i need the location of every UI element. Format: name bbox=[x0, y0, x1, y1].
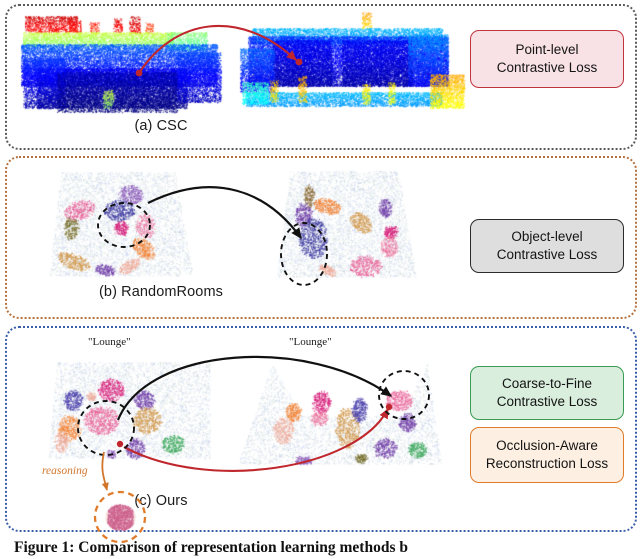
figure-1: (a) CSC Point-level Contrastive Loss (b)… bbox=[0, 0, 640, 559]
panel-label-a: (a) CSC bbox=[0, 118, 475, 134]
scene-tag-lounge-left: "Lounge" bbox=[88, 336, 131, 348]
legend-coarse-line1: Coarse-to-Fine bbox=[502, 375, 592, 393]
csc-scene-right bbox=[232, 10, 467, 118]
randomrooms-scene-left bbox=[43, 166, 193, 284]
panel-label-b: (b) RandomRooms bbox=[0, 284, 475, 300]
figure-caption-text: Comparison of representation learning me… bbox=[78, 539, 408, 556]
scene-tag-lounge-right: "Lounge" bbox=[289, 336, 332, 348]
legend-occlusion-aware-reconstruction-loss: Occlusion-Aware Reconstruction Loss bbox=[470, 427, 624, 483]
ours-scene-left bbox=[39, 350, 219, 470]
legend-object-level-line2: Contrastive Loss bbox=[497, 246, 598, 264]
figure-caption-prefix: Figure 1: bbox=[14, 539, 74, 556]
panel-label-c: (c) Ours bbox=[0, 493, 475, 509]
randomrooms-scene-right bbox=[269, 166, 419, 284]
csc-scene-left bbox=[17, 10, 227, 118]
legend-occlusion-line1: Occlusion-Aware bbox=[496, 437, 598, 455]
legend-object-level-line1: Object-level bbox=[511, 228, 582, 246]
figure-caption: Figure 1: Comparison of representation l… bbox=[14, 536, 626, 559]
legend-coarse-line2: Contrastive Loss bbox=[497, 393, 598, 411]
ours-scene-right bbox=[229, 350, 444, 470]
reasoning-label: reasoning bbox=[42, 465, 88, 477]
legend-occlusion-line2: Reconstruction Loss bbox=[486, 455, 608, 473]
reasoning-inset-object bbox=[98, 495, 142, 539]
legend-point-level-contrastive-loss: Point-level Contrastive Loss bbox=[470, 30, 624, 88]
legend-object-level-contrastive-loss: Object-level Contrastive Loss bbox=[470, 219, 624, 273]
legend-point-level-line1: Point-level bbox=[515, 41, 578, 59]
legend-coarse-to-fine-contrastive-loss: Coarse-to-Fine Contrastive Loss bbox=[470, 366, 624, 420]
legend-point-level-line2: Contrastive Loss bbox=[497, 59, 598, 77]
